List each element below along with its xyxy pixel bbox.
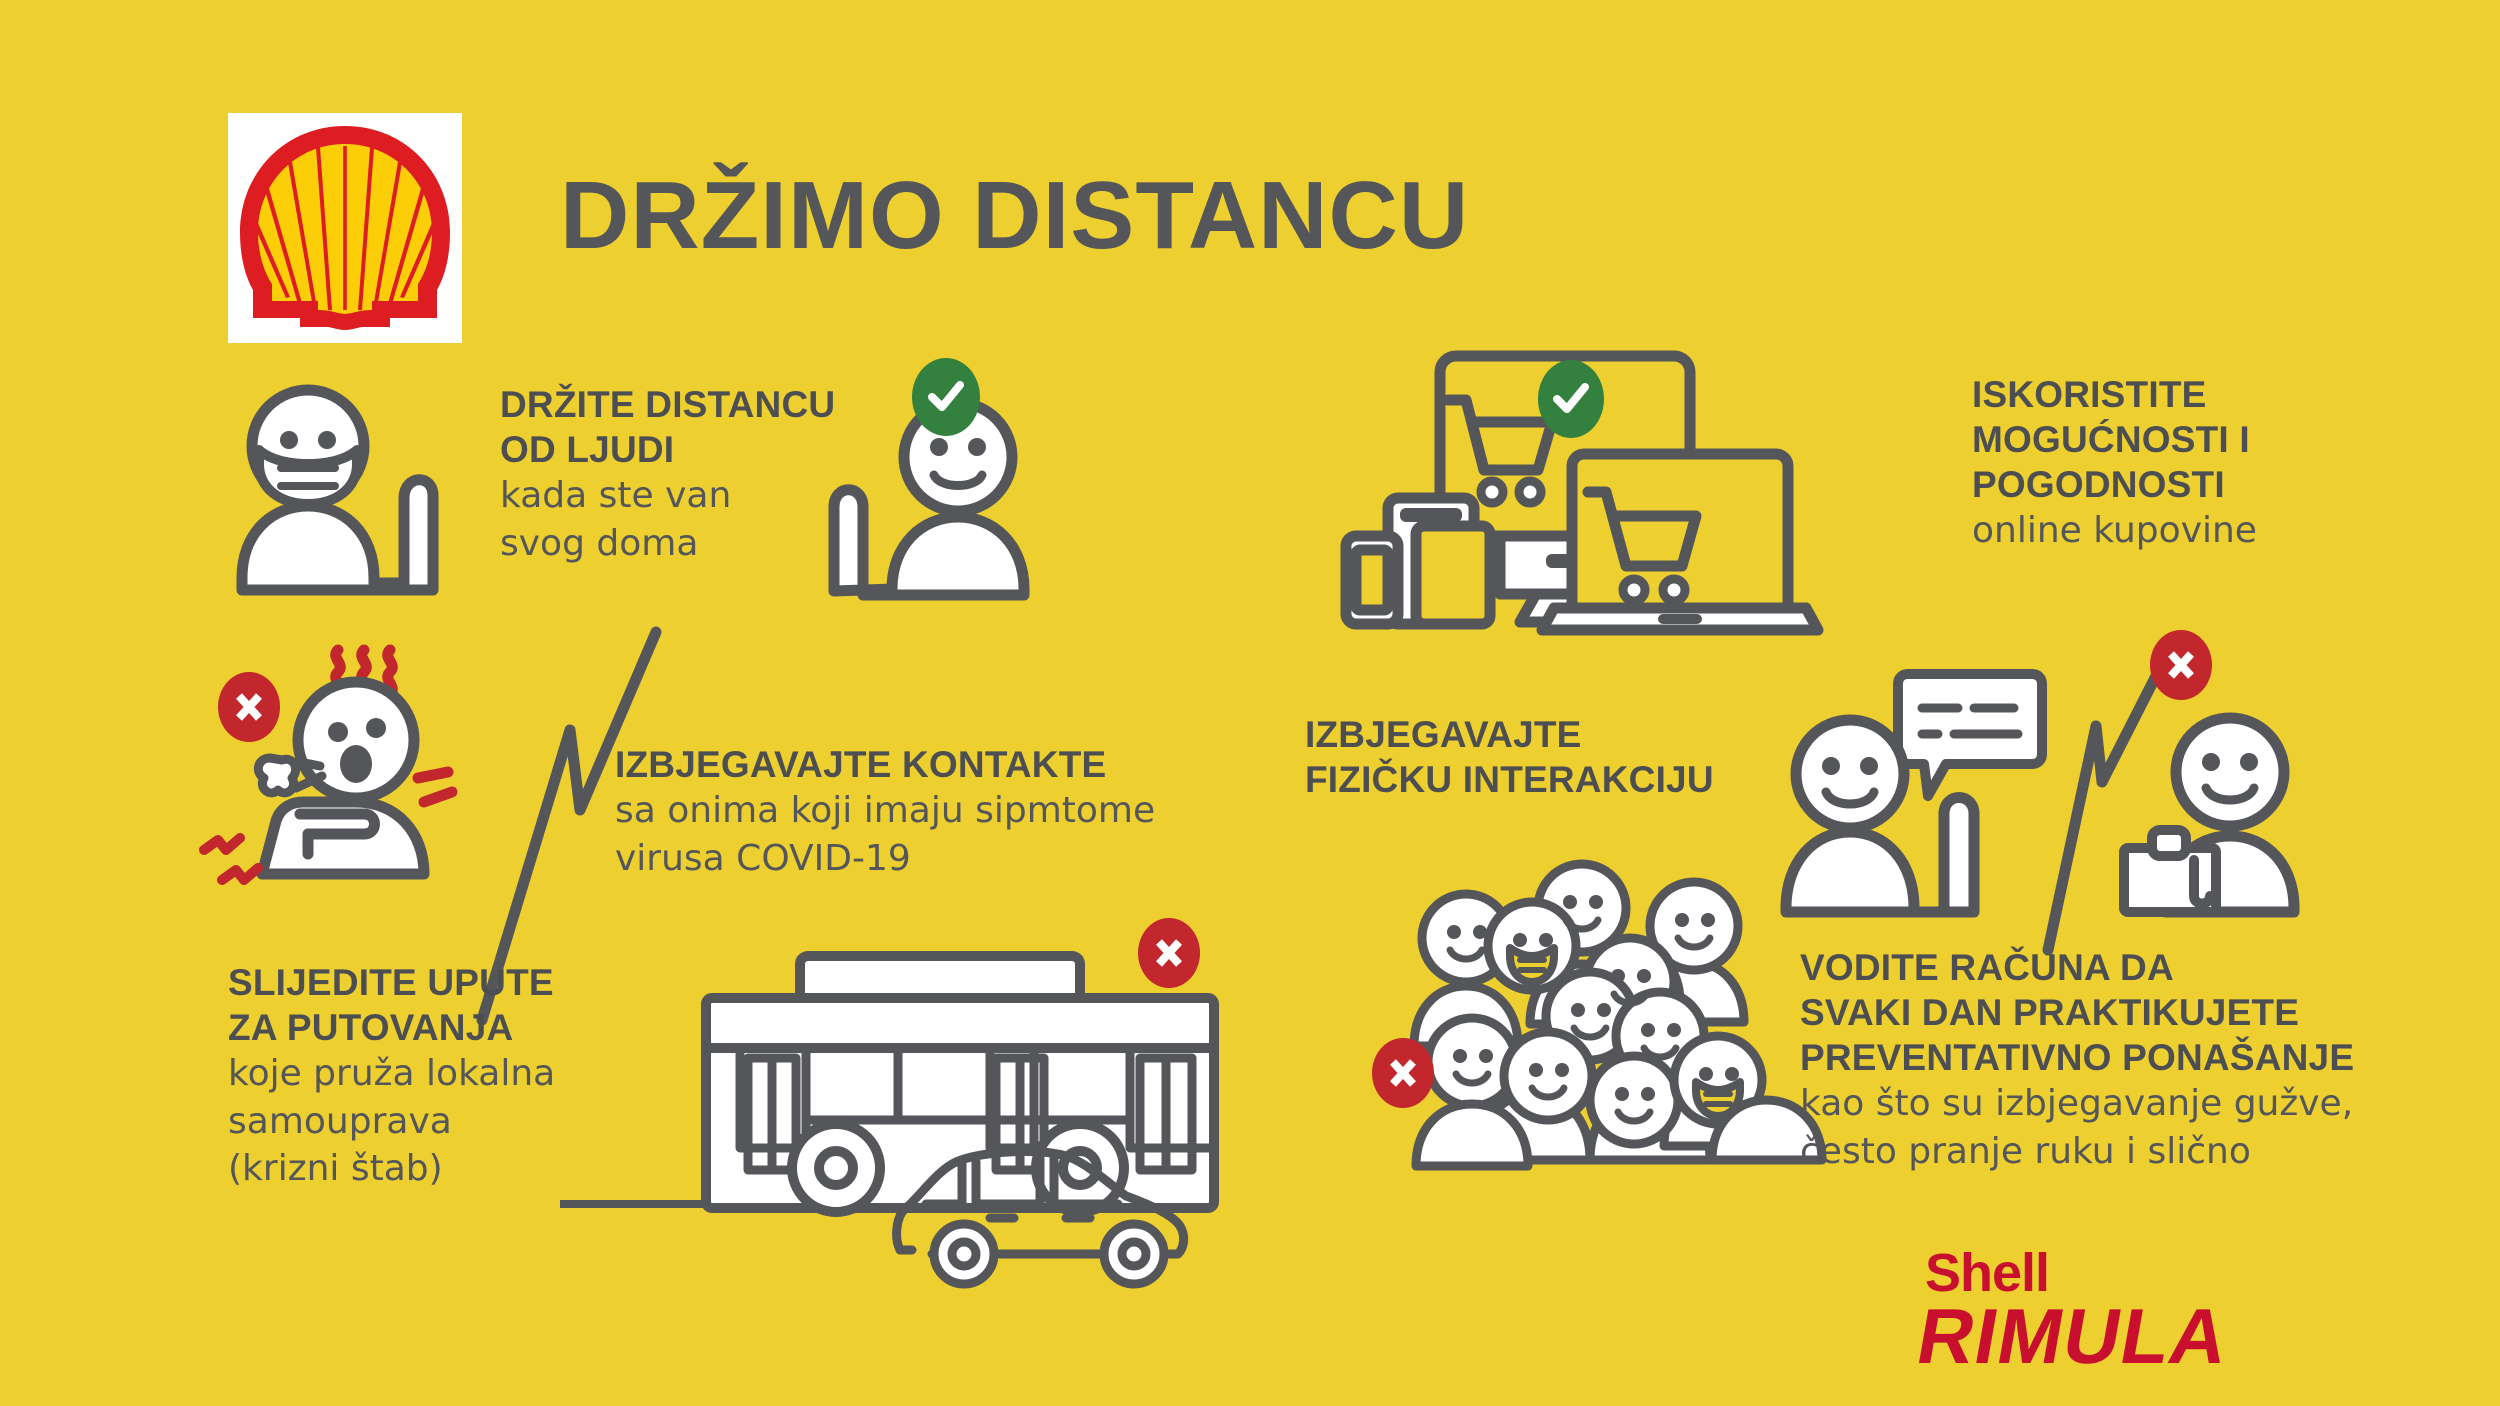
logo-band-yellow-mask bbox=[0, 113, 228, 343]
shell-rimula-logo: Shell RIMULA bbox=[1925, 1248, 2295, 1373]
block-travel-body: koje pruža lokalna samouprava (krizni št… bbox=[228, 1050, 555, 1193]
car-icon bbox=[890, 1142, 1190, 1292]
devices-shopping-icon bbox=[1340, 350, 1960, 635]
x-badge bbox=[1138, 918, 1200, 988]
x-badge bbox=[2150, 630, 2212, 700]
check-badge bbox=[1538, 360, 1604, 438]
infographic-canvas: DRŽIMO DISTANCU bbox=[0, 0, 2500, 1406]
x-icon bbox=[233, 691, 265, 723]
shell-pecten-icon bbox=[232, 122, 458, 334]
block-preventive-heading: VODITE RAČUNA DA SVAKI DAN PRAKTIKUJETE … bbox=[1800, 945, 2354, 1080]
block-keep-distance-text: DRŽITE DISTANCU OD LJUDI kada ste van sv… bbox=[500, 382, 835, 567]
block-avoid-interaction-text: IZBJEGAVAJTE FIZIČKU INTERAKCIJU bbox=[1305, 712, 1714, 802]
block-avoid-contacts-text: IZBJEGAVAJTE KONTAKTE sa onima koji imaj… bbox=[615, 742, 1155, 882]
x-badge bbox=[1372, 1038, 1434, 1108]
crowd-of-people-icon bbox=[1412, 860, 1832, 1175]
x-icon bbox=[1153, 937, 1185, 969]
check-icon bbox=[1551, 379, 1591, 419]
person-with-mask-waving-icon bbox=[228, 378, 463, 603]
block-avoid-contacts-body: sa onima koji imaju sipmtome virusa COVI… bbox=[615, 787, 1155, 882]
block-avoid-interaction-heading: IZBJEGAVAJTE FIZIČKU INTERAKCIJU bbox=[1305, 712, 1714, 802]
check-icon bbox=[926, 377, 966, 417]
shell-rimula-rimula-word: RIMULA bbox=[1912, 1299, 2295, 1373]
block-travel-heading: SLIJEDITE UPUTE ZA PUTOVANJA bbox=[228, 960, 555, 1050]
block-online-shopping-text: ISKORISTITE MOGUĆNOSTI I POGODNOSTI onli… bbox=[1972, 372, 2257, 555]
person-clipboard-icon bbox=[2120, 700, 2370, 920]
block-online-shopping-heading: ISKORISTITE MOGUĆNOSTI I POGODNOSTI bbox=[1972, 372, 2257, 507]
x-icon bbox=[1387, 1057, 1419, 1089]
block-keep-distance-body: kada ste van svog doma bbox=[500, 472, 835, 567]
block-preventive-body: kao što su izbjegavanje gužve, često pra… bbox=[1800, 1080, 2354, 1175]
check-badge bbox=[912, 358, 980, 436]
block-online-shopping-body: online kupovine bbox=[1972, 507, 2257, 555]
block-avoid-contacts-heading: IZBJEGAVAJTE KONTAKTE bbox=[615, 742, 1155, 787]
block-preventive-text: VODITE RAČUNA DA SVAKI DAN PRAKTIKUJETE … bbox=[1800, 945, 2354, 1175]
x-icon bbox=[2165, 649, 2197, 681]
x-badge bbox=[218, 672, 280, 742]
block-keep-distance-heading: DRŽITE DISTANCU OD LJUDI bbox=[500, 382, 835, 472]
page-title: DRŽIMO DISTANCU bbox=[560, 168, 1469, 264]
block-travel-text: SLIJEDITE UPUTE ZA PUTOVANJA koje pruža … bbox=[228, 960, 555, 1193]
